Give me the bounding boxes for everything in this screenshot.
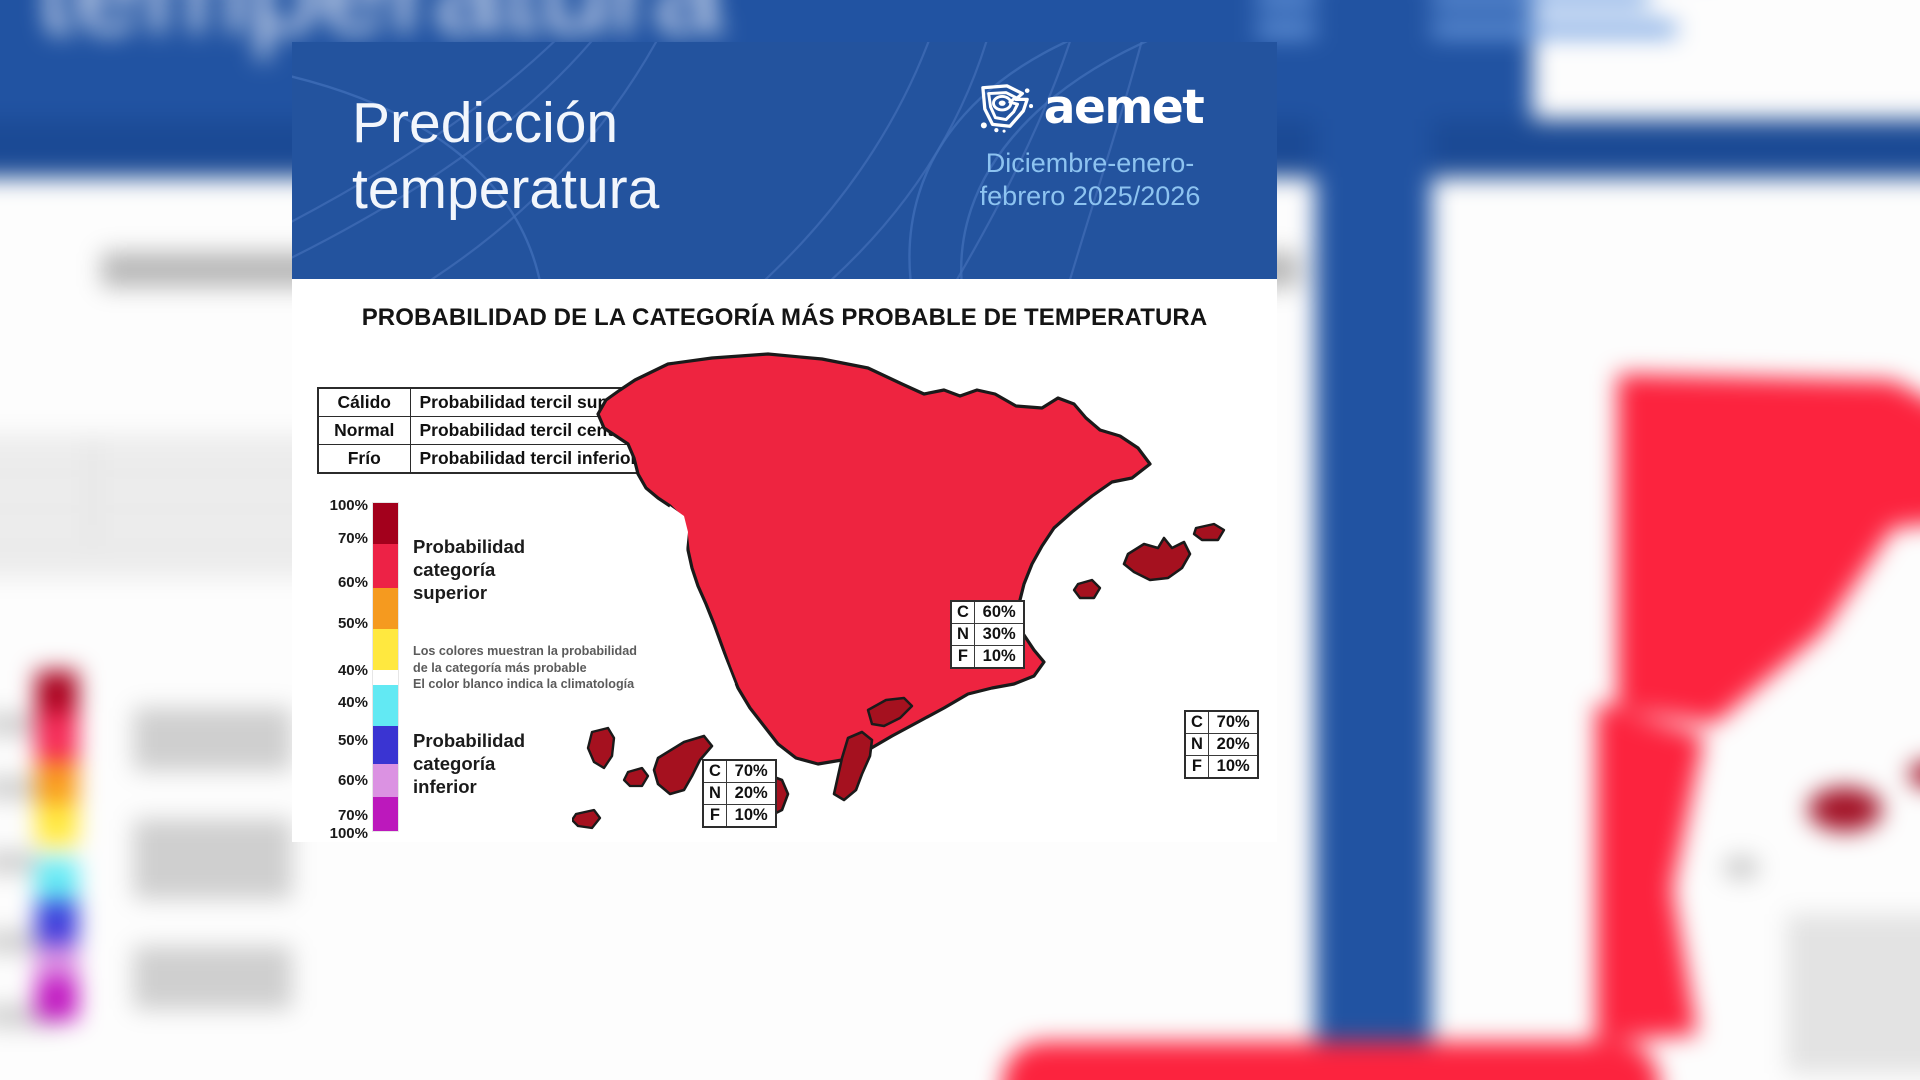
colorbar-lower-label: Probabilidad categoría inferior <box>413 729 525 798</box>
page-title: Predicción temperatura <box>352 90 659 222</box>
colorbar-segment <box>373 670 398 685</box>
table-row: C 70% <box>1185 711 1258 734</box>
colorbar-segment <box>373 503 398 544</box>
background-side-panel <box>1315 0 1432 1080</box>
brand-name: aemet <box>1044 82 1203 134</box>
table-row: C 60% <box>951 601 1024 624</box>
colorbar-gradient <box>373 503 398 831</box>
colorbar-tick: 60% <box>338 772 368 789</box>
card-header: Predicción temperatura <box>292 42 1277 279</box>
colorbar-upper-label: Probabilidad categoría superior <box>413 535 525 604</box>
map-region-la-palma <box>588 728 614 768</box>
value-key: C <box>1185 711 1208 734</box>
value-key: F <box>1185 756 1208 779</box>
value-box-canarias: C 70% N 20% F 10% <box>702 759 777 828</box>
map-region-el-hierro <box>572 810 600 828</box>
page-title-line1: Predicción <box>352 90 659 156</box>
value-number: 20% <box>1208 734 1258 756</box>
category-key: Cálido <box>318 388 410 417</box>
colorbar-lower-line2: categoría <box>413 752 525 775</box>
colorbar-tick: 40% <box>338 694 368 711</box>
colorbar-tick: 70% <box>338 807 368 824</box>
colorbar-tick: 70% <box>338 530 368 547</box>
spain-forecast-map: C 60% N 30% F 10% C 70% N <box>572 332 1277 842</box>
value-key: N <box>703 783 726 805</box>
page-title-line2: temperatura <box>352 156 659 222</box>
value-box-baleares: C 70% N 20% F 10% <box>1184 710 1259 779</box>
value-number: 30% <box>974 624 1024 646</box>
map-region-ibiza <box>1074 580 1100 598</box>
card-body: Cálido Probabilidad tercil superior Norm… <box>292 332 1277 842</box>
colorbar-segment <box>373 726 398 764</box>
category-key: Frío <box>318 445 410 474</box>
table-row: N 30% <box>951 624 1024 646</box>
value-number: 10% <box>974 646 1024 669</box>
table-row: C 70% <box>703 760 776 783</box>
value-number: 70% <box>726 760 776 783</box>
colorbar-tick: 100% <box>330 497 368 514</box>
value-number: 70% <box>1208 711 1258 734</box>
table-row: F 10% <box>703 805 776 828</box>
map-region-la-gomera <box>624 768 648 786</box>
colorbar-upper-line2: categoría <box>413 558 525 581</box>
colorbar-tick: 50% <box>338 615 368 632</box>
aemet-contour-logo-icon <box>977 82 1035 134</box>
colorbar-tick: 100% <box>330 825 368 842</box>
forecast-period-line2: febrero 2025/2026 <box>955 180 1225 213</box>
value-box-peninsula: C 60% N 30% F 10% <box>950 600 1025 669</box>
background-map-bottom <box>1002 1041 1659 1080</box>
value-key: C <box>703 760 726 783</box>
value-number: 10% <box>1208 756 1258 779</box>
spain-map-shapes <box>572 332 1277 842</box>
colorbar-segment <box>373 588 398 629</box>
brand-block: aemet Diciembre-enero- febrero 2025/2026 <box>955 82 1225 213</box>
colorbar-segment <box>373 764 398 797</box>
colorbar-segment <box>373 544 398 588</box>
background-value-panel <box>1787 914 1920 1073</box>
value-number: 60% <box>974 601 1024 624</box>
table-row: F 10% <box>1185 756 1258 779</box>
value-number: 10% <box>726 805 776 828</box>
table-row: N 20% <box>703 783 776 805</box>
colorbar-lower-line1: Probabilidad <box>413 729 525 752</box>
section-title: PROBABILIDAD DE LA CATEGORÍA MÁS PROBABL… <box>292 304 1277 332</box>
colorbar-tick: 60% <box>338 574 368 591</box>
category-key: Normal <box>318 417 410 445</box>
colorbar-tick: 50% <box>338 732 368 749</box>
value-key: F <box>703 805 726 828</box>
background-colorbar <box>36 670 78 1020</box>
forecast-period: Diciembre-enero- febrero 2025/2026 <box>955 147 1225 213</box>
table-row: F 10% <box>951 646 1024 669</box>
map-region-mallorca <box>1124 538 1190 580</box>
value-key: F <box>951 646 974 669</box>
colorbar-segment <box>373 797 398 831</box>
value-number: 20% <box>726 783 776 805</box>
colorbar-segment <box>373 685 398 726</box>
aemet-forecast-card: Predicción temperatura <box>292 42 1277 842</box>
colorbar-tick: 40% <box>338 662 368 679</box>
colorbar-segment <box>373 629 398 670</box>
colorbar-lower-line3: inferior <box>413 775 525 798</box>
value-key: C <box>951 601 974 624</box>
colorbar-tick-labels: 100% 70% 60% 50% 40% 40% 50% 60% 70% 100… <box>310 497 368 842</box>
background-legend-table <box>0 437 324 575</box>
colorbar-upper-line1: Probabilidad <box>413 535 525 558</box>
forecast-period-line1: Diciembre-enero- <box>955 147 1225 180</box>
map-region-menorca <box>1194 524 1224 540</box>
value-key: N <box>951 624 974 646</box>
value-key: N <box>1185 734 1208 756</box>
table-row: N 20% <box>1185 734 1258 756</box>
colorbar-upper-line3: superior <box>413 581 525 604</box>
